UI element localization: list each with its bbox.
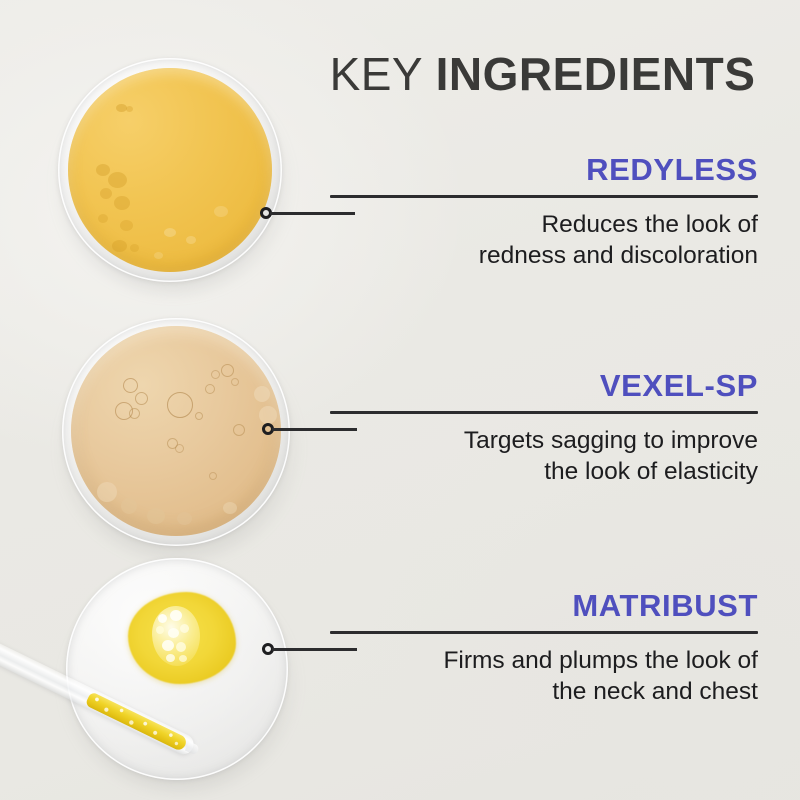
page-title: KEY INGREDIENTS — [295, 48, 790, 100]
page-title-light: KEY — [330, 48, 436, 100]
ingredient-description-line: redness and discoloration — [330, 240, 758, 271]
ingredient-photo-area — [0, 0, 330, 800]
ingredient-name: VEXEL-SP — [330, 368, 758, 404]
ingredient-item-redyless: REDYLESS Reduces the look of redness and… — [330, 152, 758, 271]
ingredient-description: Reduces the look of redness and discolor… — [330, 209, 758, 271]
ingredient-name: REDYLESS — [330, 152, 758, 188]
ingredient-item-matribust: MATRIBUST Firms and plumps the look of t… — [330, 588, 758, 707]
serum-drop-bubble-cluster — [152, 606, 200, 666]
ingredient-divider — [330, 411, 758, 414]
petri-dish-2-serum — [71, 326, 281, 536]
ingredients-text-column: KEY INGREDIENTS REDYLESS Reduces the loo… — [330, 0, 800, 800]
ingredient-description-line: Reduces the look of — [330, 209, 758, 240]
ingredient-description-line: the look of elasticity — [330, 456, 758, 487]
ingredient-divider — [330, 195, 758, 198]
ingredient-divider — [330, 631, 758, 634]
ingredient-description: Firms and plumps the look of the neck an… — [330, 645, 758, 707]
ingredient-description-line: Targets sagging to improve — [330, 425, 758, 456]
page-title-bold: INGREDIENTS — [436, 48, 756, 100]
ingredient-name: MATRIBUST — [330, 588, 758, 624]
ingredient-description-line: the neck and chest — [330, 676, 758, 707]
ingredient-description: Targets sagging to improve the look of e… — [330, 425, 758, 487]
ingredient-item-vexel-sp: VEXEL-SP Targets sagging to improve the … — [330, 368, 758, 487]
ingredient-description-line: Firms and plumps the look of — [330, 645, 758, 676]
key-ingredients-infographic: KEY INGREDIENTS REDYLESS Reduces the loo… — [0, 0, 800, 800]
petri-dish-1-serum — [68, 68, 272, 272]
